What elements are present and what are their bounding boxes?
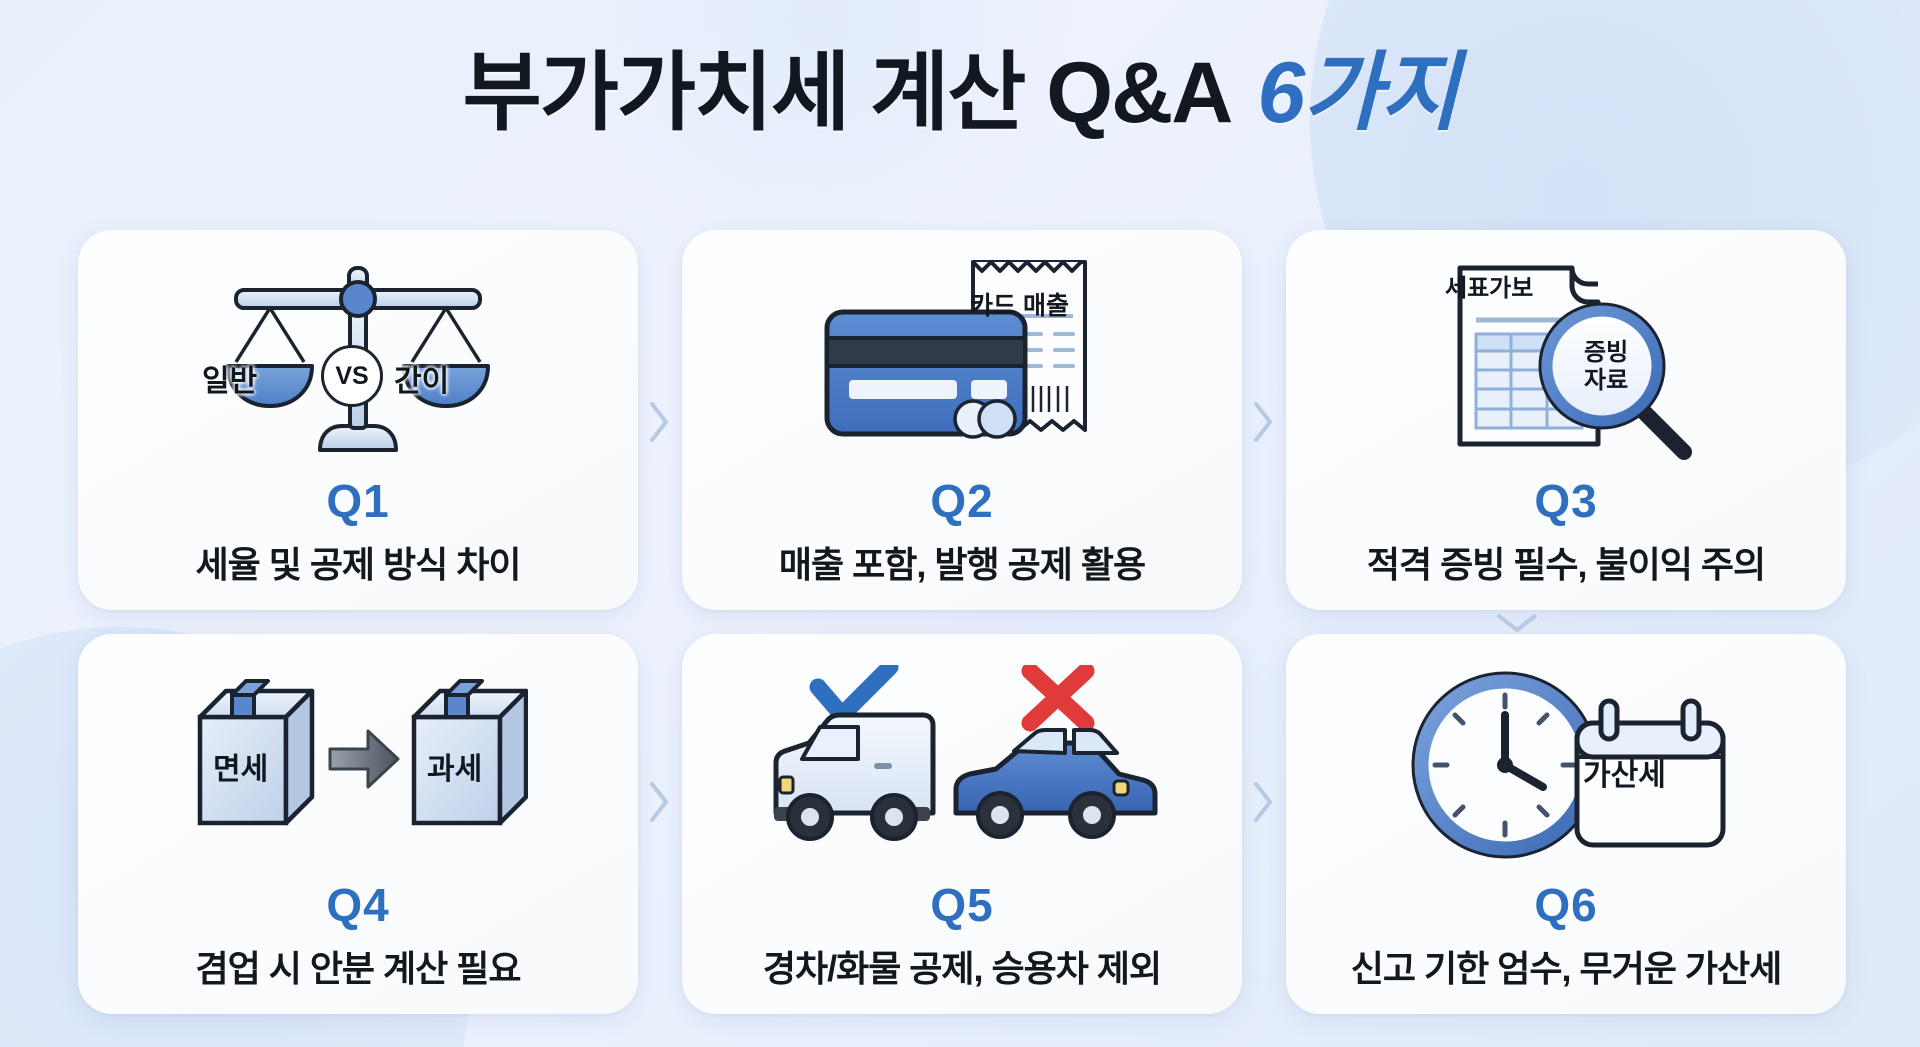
qa-number-q2: Q2 xyxy=(930,478,993,524)
qa-card-q4[interactable]: 면세 과세 Q4 겸업 시 안분 계산 필요 xyxy=(78,634,638,1014)
van-car-icon xyxy=(682,650,1242,880)
qa-caption-q2: 매출 포함, 발행 공제 활용 xyxy=(779,536,1145,588)
page-title: 부가가치세 계산 Q&A6가지 xyxy=(0,48,1920,139)
qa-caption-q4: 겸업 시 안분 계산 필요 xyxy=(195,940,520,992)
qa-caption-q3: 적격 증빙 필수, 불이익 주의 xyxy=(1367,536,1765,588)
credit-card-receipt-icon: 카드 매출 xyxy=(682,246,1242,476)
qa-card-q5[interactable]: Q5 경차/화물 공제, 승용차 제외 xyxy=(682,634,1242,1014)
document-magnifier-icon: 세표가보 증빙 자료 xyxy=(1286,246,1846,476)
connector-q5-q6 xyxy=(1250,780,1276,824)
qa-card-grid: 일반 간이 VS Q1 세율 및 공제 방식 차이 xyxy=(78,230,1846,1014)
chevron-right-icon xyxy=(1250,780,1276,824)
connector-q4-q5 xyxy=(646,780,672,824)
clock-calendar-icon: 가산세 xyxy=(1286,650,1846,880)
qa-card-q2[interactable]: 카드 매출 Q2 매출 포함, 발행 공제 활용 xyxy=(682,230,1242,610)
connector-q1-q2 xyxy=(646,400,672,444)
chevron-down-icon xyxy=(1495,610,1539,636)
qa-number-q6: Q6 xyxy=(1534,882,1597,928)
qa-card-q6[interactable]: 가산세 Q6 신고 기한 엄수, 무거운 가산세 xyxy=(1286,634,1846,1014)
qa-number-q5: Q5 xyxy=(930,882,993,928)
qa-caption-q1: 세율 및 공제 방식 차이 xyxy=(195,536,520,588)
qa-number-q1: Q1 xyxy=(326,478,389,524)
qa-number-q3: Q3 xyxy=(1534,478,1597,524)
connector-q2-q3 xyxy=(1250,400,1276,444)
qa-caption-q5: 경차/화물 공제, 승용차 제외 xyxy=(763,940,1161,992)
chevron-right-icon xyxy=(646,780,672,824)
chevron-right-icon xyxy=(1250,400,1276,444)
page-title-main: 부가가치세 계산 Q&A xyxy=(463,48,1232,139)
balance-scale-icon: 일반 간이 VS xyxy=(78,246,638,476)
connector-q3-q4 xyxy=(1495,610,1539,636)
page-title-accent: 6가지 xyxy=(1257,48,1457,139)
qa-card-q1[interactable]: 일반 간이 VS Q1 세율 및 공제 방식 차이 xyxy=(78,230,638,610)
qa-number-q4: Q4 xyxy=(326,882,389,928)
boxes-arrow-icon: 면세 과세 xyxy=(78,650,638,880)
qa-card-q3[interactable]: 세표가보 증빙 자료 Q3 적격 증빙 필수, 불이익 주의 xyxy=(1286,230,1846,610)
chevron-right-icon xyxy=(646,400,672,444)
qa-caption-q6: 신고 기한 엄수, 무거운 가산세 xyxy=(1351,940,1781,992)
